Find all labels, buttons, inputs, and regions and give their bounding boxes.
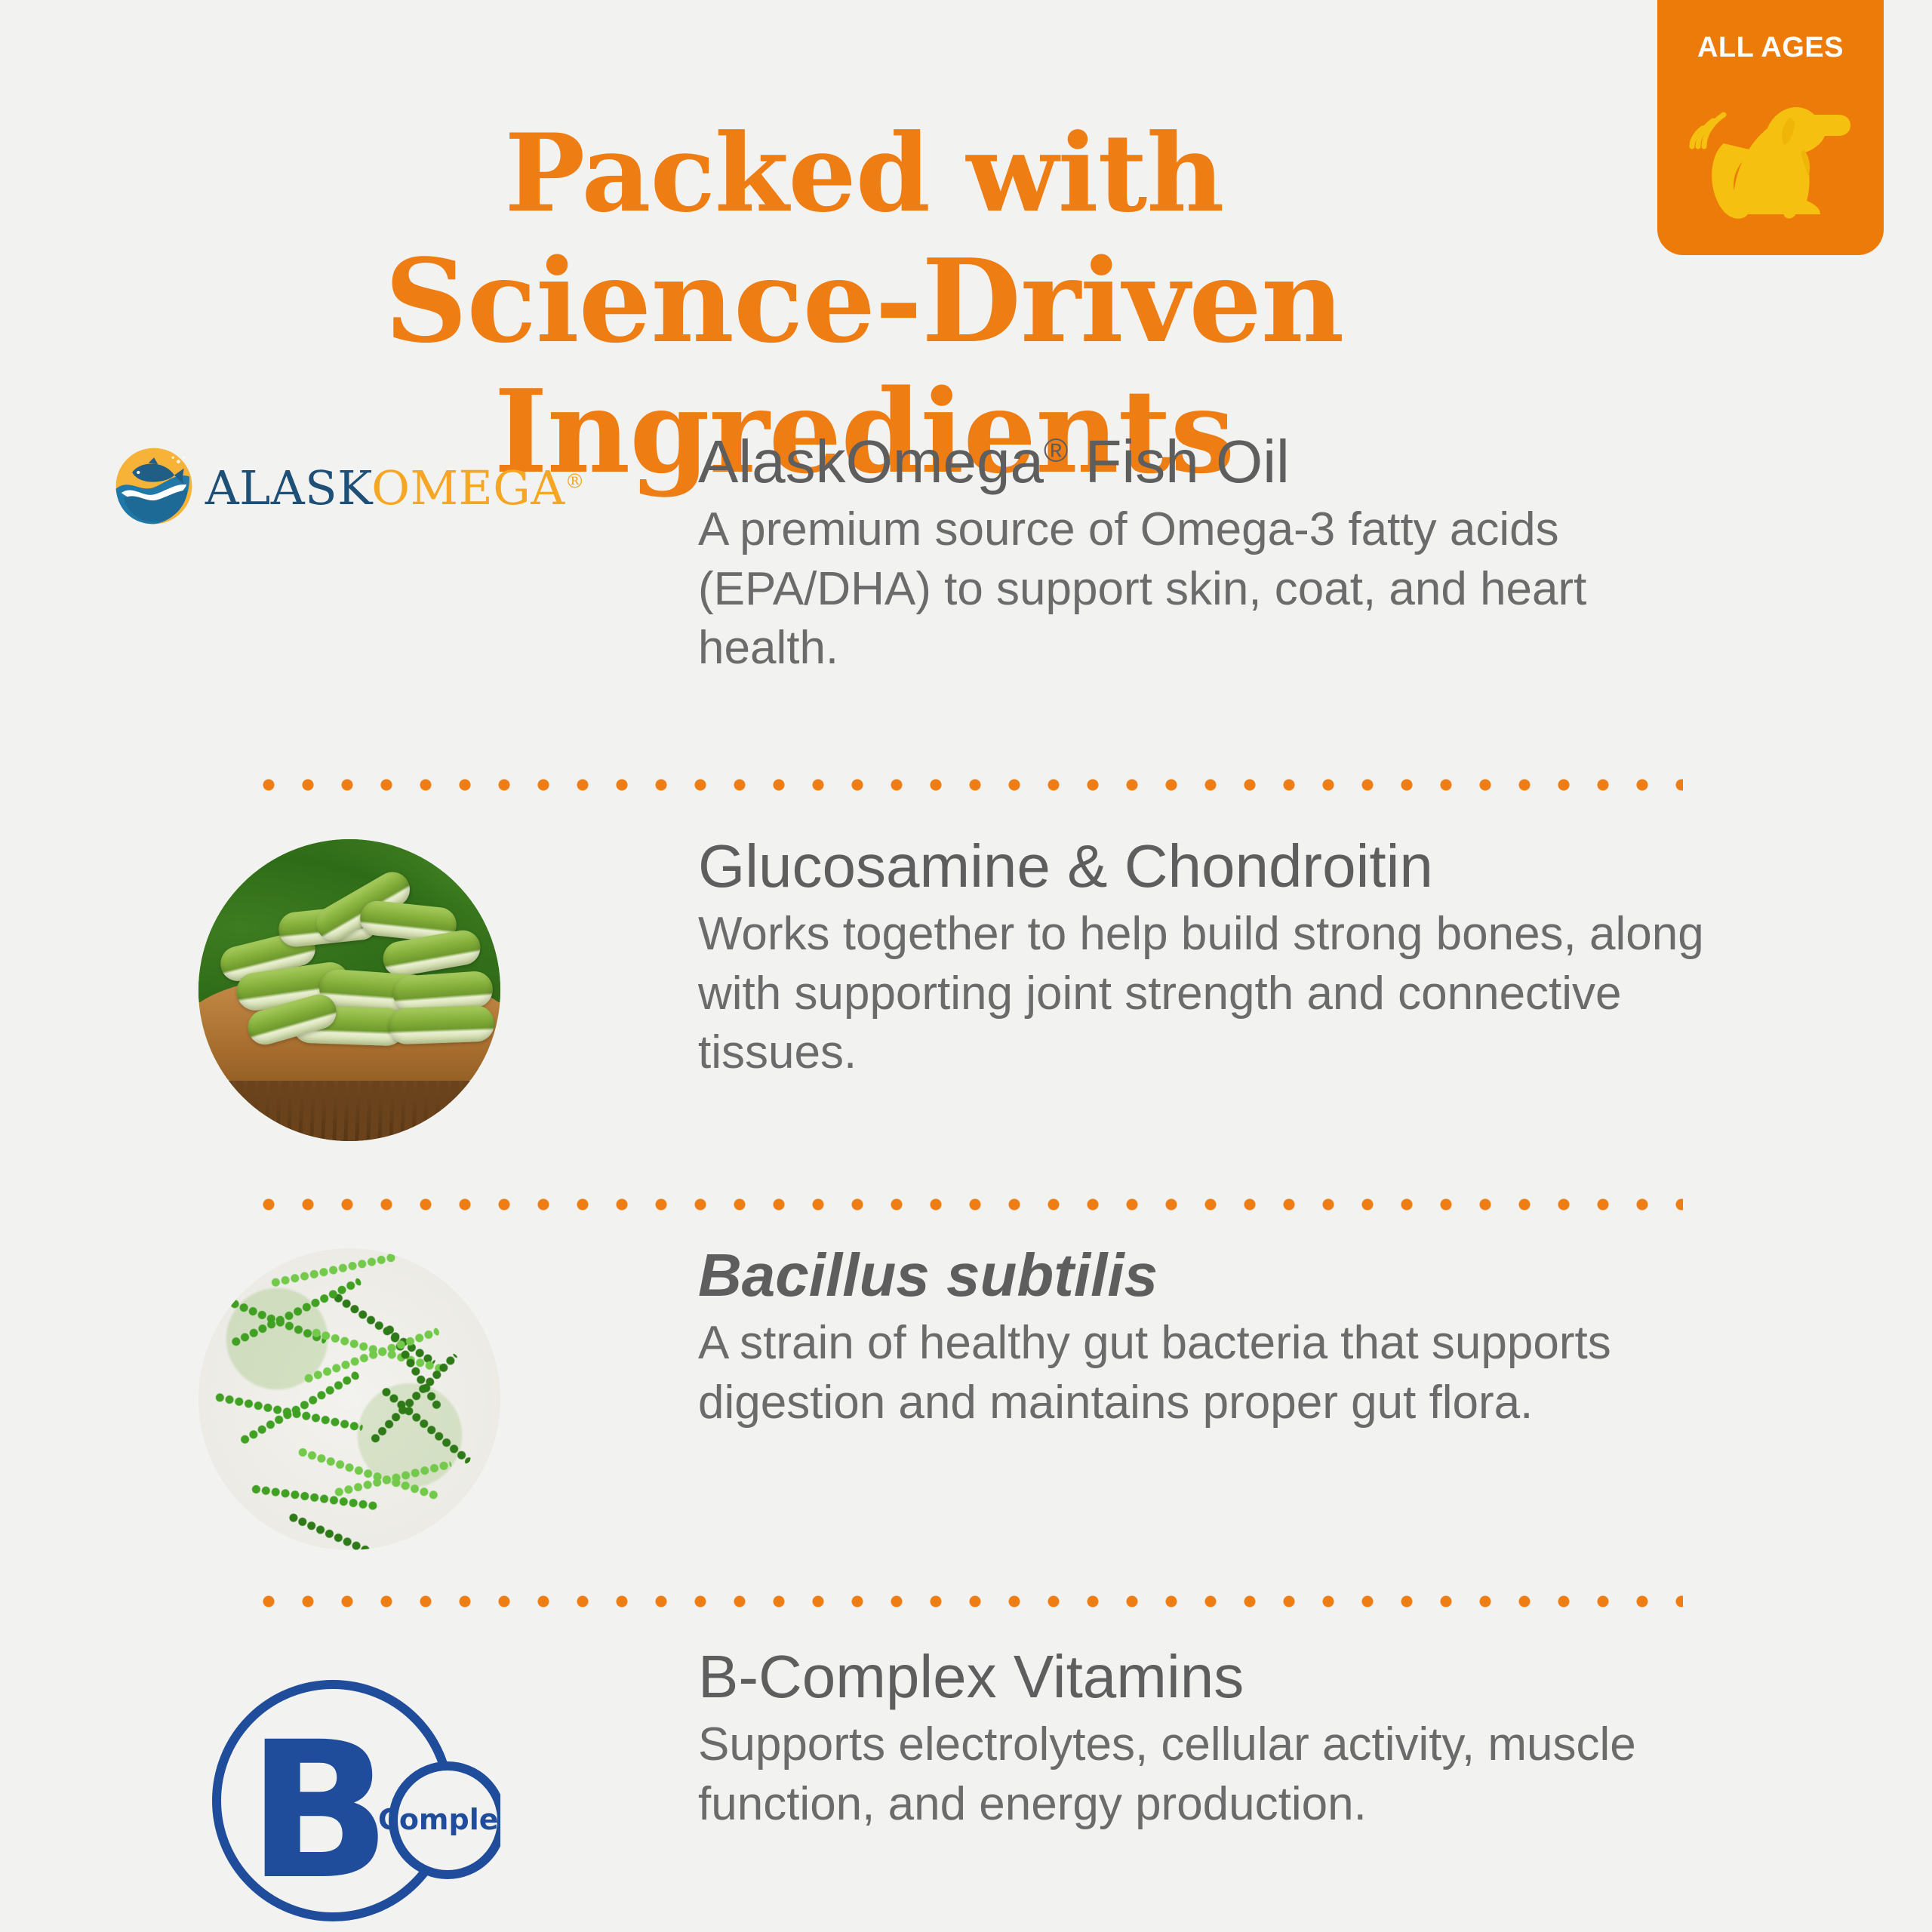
infographic-page: ALL AGES Pac: [0, 0, 1932, 1932]
bcomplex-logo: B Complex: [198, 1650, 500, 1932]
ingredient-description: A premium source of Omega-3 fatty acids …: [698, 500, 1683, 678]
ingredient-title-tail: Fish Oil: [1068, 428, 1289, 495]
ingredient-text: AlaskOmega® Fish Oil A premium source of…: [698, 430, 1932, 678]
section-divider: [249, 1595, 1683, 1607]
alaskomega-wordmark: ALASKOMEGA®: [205, 465, 585, 512]
ingredient-visual: [0, 1244, 698, 1550]
alaskomega-logo: ALASKOMEGA®: [113, 445, 585, 531]
ingredient-row: ALASKOMEGA® AlaskOmega® Fish Oil A premi…: [0, 430, 1932, 755]
fish-wave-sun-icon: [113, 445, 195, 531]
all-ages-label: ALL AGES: [1657, 32, 1884, 64]
bacteria-microscopy-photo: [198, 1248, 500, 1550]
ingredient-row: Bacillus subtilis A strain of healthy gu…: [0, 1211, 1932, 1576]
alaskomega-word-secondary: OMEGA: [371, 460, 565, 515]
bcomplex-letter: B: [247, 1701, 391, 1921]
ingredient-text: Bacillus subtilis A strain of healthy gu…: [698, 1244, 1932, 1432]
ingredient-visual: ALASKOMEGA®: [0, 430, 698, 520]
registered-mark-icon: ®: [1044, 432, 1068, 469]
section-divider: [249, 1198, 1683, 1211]
ingredient-title: Bacillus subtilis: [698, 1244, 1683, 1308]
ingredient-description: A strain of healthy gut bacteria that su…: [698, 1314, 1683, 1432]
ingredient-text: Glucosamine & Chondroitin Works together…: [698, 835, 1932, 1083]
ingredient-row: Glucosamine & Chondroitin Works together…: [0, 791, 1932, 1167]
registered-mark-icon: ®: [565, 470, 586, 493]
ingredient-title: AlaskOmega® Fish Oil: [698, 430, 1683, 494]
ingredient-list: ALASKOMEGA® AlaskOmega® Fish Oil A premi…: [0, 430, 1932, 1932]
ingredient-title: B-Complex Vitamins: [698, 1645, 1706, 1709]
ingredient-title-main: AlaskOmega: [698, 428, 1044, 495]
ingredient-description: Works together to help build strong bone…: [698, 905, 1706, 1083]
section-divider: [249, 779, 1683, 791]
alaskomega-word-primary: ALASK: [205, 460, 371, 515]
ingredient-visual: [0, 835, 698, 1141]
bcomplex-badge-text: Complex: [377, 1803, 500, 1836]
ingredient-visual: B Complex: [0, 1645, 698, 1932]
ingredient-text: B-Complex Vitamins Supports electrolytes…: [698, 1645, 1932, 1834]
ingredient-description: Supports electrolytes, cellular activity…: [698, 1715, 1706, 1834]
page-title-line-1: Packed with: [0, 113, 1728, 235]
ingredient-title: Glucosamine & Chondroitin: [698, 835, 1706, 899]
capsules-photo: [198, 839, 500, 1141]
ingredient-row: B Complex B-Complex Vitamins Supports el…: [0, 1607, 1932, 1932]
